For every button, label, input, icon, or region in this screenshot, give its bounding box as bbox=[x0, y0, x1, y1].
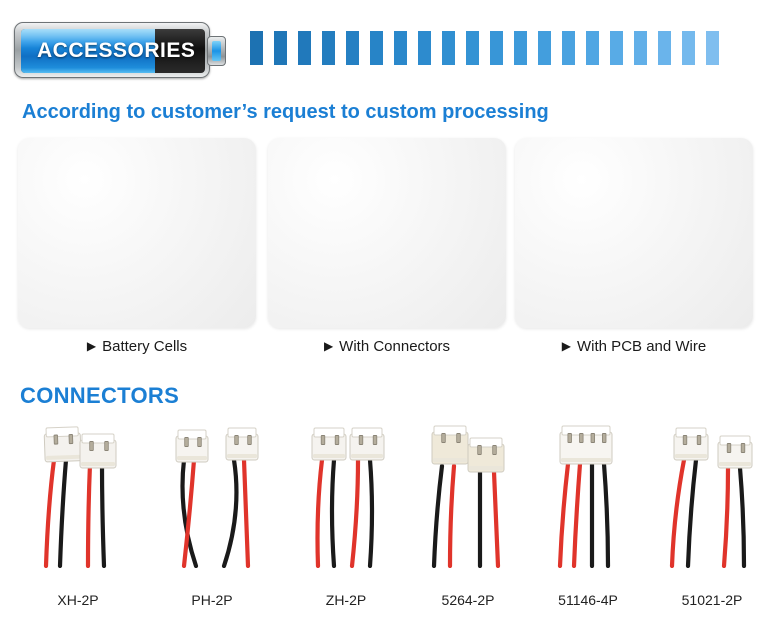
connector-illustration bbox=[148, 416, 276, 568]
accessories-battery-badge: ACCESSORIES bbox=[14, 22, 226, 78]
connector-illustration bbox=[404, 416, 532, 568]
bar-segment-12 bbox=[538, 31, 551, 65]
bar-segment-18 bbox=[682, 31, 695, 65]
connector-label: 51146-4P bbox=[524, 592, 652, 608]
decorative-bar-strip bbox=[250, 31, 766, 65]
header-bar: ACCESSORIES bbox=[0, 0, 776, 92]
connector-label: ZH-2P bbox=[282, 592, 410, 608]
battery-icon: ACCESSORIES bbox=[14, 22, 210, 78]
connector-illustration bbox=[282, 416, 410, 568]
bar-segment-0 bbox=[250, 31, 263, 65]
connector-illustration bbox=[648, 416, 776, 568]
bar-segment-17 bbox=[658, 31, 671, 65]
bar-segment-15 bbox=[610, 31, 623, 65]
connector-image-5264-2p bbox=[404, 416, 532, 568]
panel-background bbox=[515, 138, 753, 328]
connector-label: 5264-2P bbox=[404, 592, 532, 608]
bar-segment-10 bbox=[490, 31, 503, 65]
photo-panel-with-pcb-and-wire bbox=[515, 138, 753, 328]
connector-illustration bbox=[14, 416, 142, 568]
bar-segment-19 bbox=[706, 31, 719, 65]
bar-segment-2 bbox=[298, 31, 311, 65]
connector-image-xh-2p bbox=[14, 416, 142, 568]
bar-segment-5 bbox=[370, 31, 383, 65]
photo-panel-battery-cells: + - ‹›‹› bbox=[18, 138, 256, 328]
caption-text: With Connectors bbox=[339, 338, 450, 355]
connector-image-51021-2p bbox=[648, 416, 776, 568]
connectors-heading: CONNECTORS bbox=[20, 383, 179, 409]
bar-segment-3 bbox=[322, 31, 335, 65]
connector-label: XH-2P bbox=[14, 592, 142, 608]
triangle-marker-icon: ▶ bbox=[562, 339, 571, 353]
bar-segment-14 bbox=[586, 31, 599, 65]
caption-text: Battery Cells bbox=[102, 338, 187, 355]
connector-image-51146-4p bbox=[524, 416, 652, 568]
battery-body: ACCESSORIES bbox=[21, 29, 205, 73]
connector-image-ph-2p bbox=[148, 416, 276, 568]
bar-segment-8 bbox=[442, 31, 455, 65]
caption-with-connectors: ▶With Connectors bbox=[268, 338, 506, 355]
caption-text: With PCB and Wire bbox=[577, 338, 706, 355]
bar-segment-9 bbox=[466, 31, 479, 65]
connector-label: PH-2P bbox=[148, 592, 276, 608]
bar-segment-16 bbox=[634, 31, 647, 65]
caption-battery-cells: ▶Battery Cells bbox=[18, 338, 256, 355]
bar-segment-6 bbox=[394, 31, 407, 65]
photo-panel-with-connectors bbox=[268, 138, 506, 328]
panel-background bbox=[268, 138, 506, 328]
panel-background bbox=[18, 138, 256, 328]
bar-segment-4 bbox=[346, 31, 359, 65]
bar-segment-7 bbox=[418, 31, 431, 65]
connector-label: 51021-2P bbox=[648, 592, 776, 608]
bar-segment-1 bbox=[274, 31, 287, 65]
custom-processing-heading: According to customer’s request to custo… bbox=[22, 101, 549, 124]
badge-label: ACCESSORIES bbox=[21, 29, 205, 73]
triangle-marker-icon: ▶ bbox=[324, 339, 333, 353]
bar-segment-13 bbox=[562, 31, 575, 65]
caption-with-pcb-and-wire: ▶With PCB and Wire bbox=[515, 338, 753, 355]
bar-segment-11 bbox=[514, 31, 527, 65]
battery-terminal-core bbox=[212, 41, 221, 61]
battery-terminal-icon bbox=[207, 36, 226, 66]
connector-illustration bbox=[524, 416, 652, 568]
connector-image-zh-2p bbox=[282, 416, 410, 568]
triangle-marker-icon: ▶ bbox=[87, 339, 96, 353]
